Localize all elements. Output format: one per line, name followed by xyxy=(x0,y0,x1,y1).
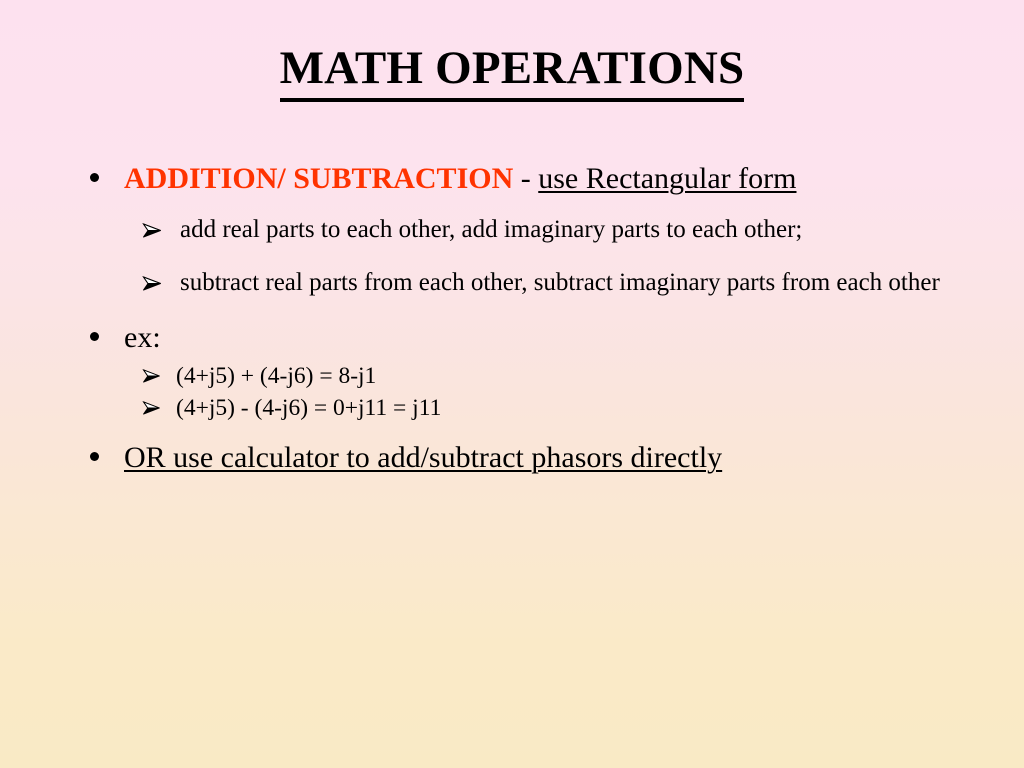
bullet-addition-subtraction: ADDITION/ SUBTRACTION - use Rectangular … xyxy=(84,160,974,198)
bullet-dot-icon xyxy=(90,173,99,182)
bullet-addition-subtraction-dash: - xyxy=(513,162,538,195)
bullet-example-label: ex: xyxy=(84,319,974,357)
bullet-calculator-note-text: OR use calculator to add/subtract phasor… xyxy=(124,441,722,474)
spacer-after-bullet-1 xyxy=(84,200,974,214)
spacer-before-calculator-note xyxy=(84,425,974,439)
arrow-bullet-icon xyxy=(142,393,168,423)
slide-title-block: MATH OPERATIONS xyxy=(0,44,1024,102)
arrow-bullet-icon xyxy=(142,361,168,391)
page-title: MATH OPERATIONS xyxy=(280,44,745,102)
bullet-addition-subtraction-form: use Rectangular form xyxy=(538,162,796,195)
slide-canvas: MATH OPERATIONS ADDITION/ SUBTRACTION - … xyxy=(0,0,1024,768)
bullet-addition-subtraction-keyword: ADDITION/ SUBTRACTION xyxy=(124,162,513,195)
bullet-dot-icon xyxy=(90,452,99,461)
arrow-bullet-icon xyxy=(142,214,168,246)
sub-bullet-equation-addition: (4+j5) + (4-j6) = 8-j1 xyxy=(84,361,974,391)
equation-subtraction-text: (4+j5) - (4-j6) = 0+j11 = j11 xyxy=(176,395,441,421)
bullet-example-label-text: ex: xyxy=(124,321,161,354)
sub-bullet-add-rule: add real parts to each other, add imagin… xyxy=(84,214,974,246)
sub-bullet-equation-subtraction: (4+j5) - (4-j6) = 0+j11 = j11 xyxy=(84,393,974,423)
slide-body: ADDITION/ SUBTRACTION - use Rectangular … xyxy=(84,160,974,481)
bullet-calculator-note: OR use calculator to add/subtract phasor… xyxy=(84,439,974,477)
sub-bullet-subtract-rule-text: subtract real parts from each other, sub… xyxy=(180,269,940,296)
arrow-bullet-icon xyxy=(142,267,168,299)
sub-bullet-add-rule-text: add real parts to each other, add imagin… xyxy=(180,216,802,243)
sub-bullet-subtract-rule: subtract real parts from each other, sub… xyxy=(84,267,974,299)
spacer-before-example xyxy=(84,303,974,319)
equation-addition-text: (4+j5) + (4-j6) = 8-j1 xyxy=(176,363,376,389)
spacer-between-sub-bullets xyxy=(84,251,974,267)
bullet-dot-icon xyxy=(90,332,99,341)
